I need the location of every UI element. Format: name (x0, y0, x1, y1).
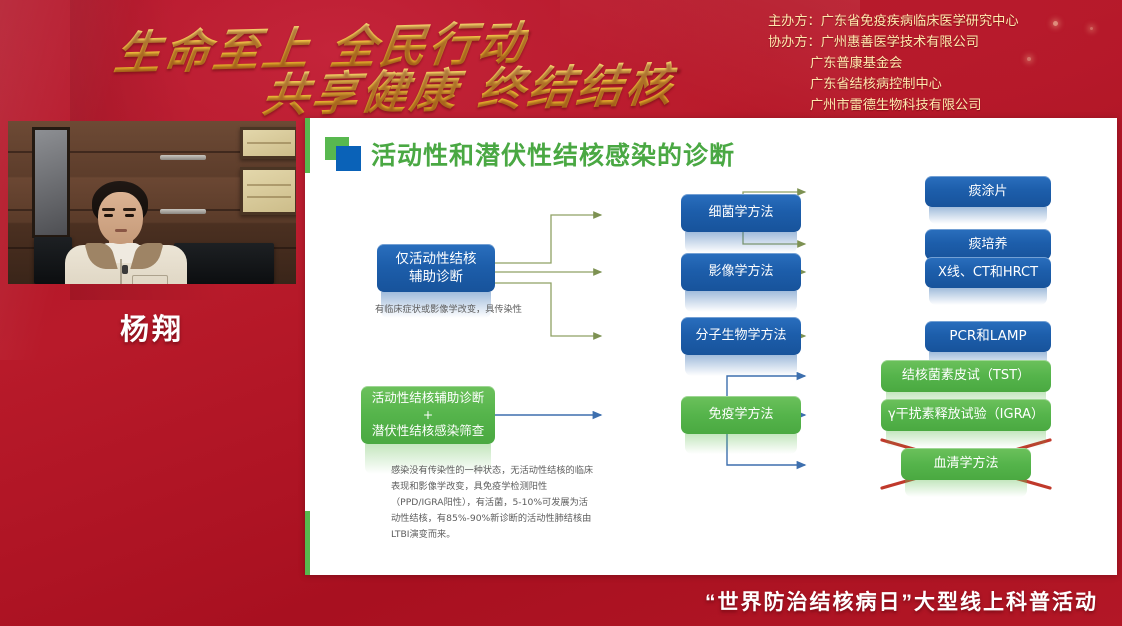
flow-node-xray-ct-hrct[interactable]: X线、CT和HRCT (925, 257, 1051, 288)
sponsor-row: 广东省结核病控制中心 (768, 73, 1098, 94)
sponsor-row: 主办方：广东省免疫疾病临床医学研究中心 (768, 10, 1098, 31)
slide-title: 活动性和潜伏性结核感染的诊断 (371, 136, 735, 172)
sponsor-list: 主办方：广东省免疫疾病临床医学研究中心 协办方：广州惠善医学技术有限公司 广东普… (768, 10, 1098, 115)
flow-node-active-tb-aid[interactable]: 仅活动性结核 辅助诊断 (377, 244, 495, 292)
speaker-name: 杨翔 (8, 306, 296, 348)
flow-node-tst[interactable]: 结核菌素皮试（TST） (881, 360, 1051, 392)
bottom-banner-text: “世界防治结核病日”大型线上科普活动 (705, 586, 1098, 616)
sparkle-dot (1053, 21, 1058, 26)
flow-node-molecular[interactable]: 分子生物学方法 (681, 317, 801, 355)
presentation-slide[interactable]: 活动性和潜伏性结核感染的诊断 (305, 118, 1117, 575)
event-headline: 生命至上 全民行动 共享健康 终结结核 (104, 4, 724, 114)
flow-node-immunology[interactable]: 免疫学方法 (681, 396, 801, 434)
wall-certificate (240, 127, 296, 159)
flow-node-bacteriology[interactable]: 细菌学方法 (681, 194, 801, 232)
broadcast-screen: 生命至上 全民行动 共享健康 终结结核 主办方：广东省免疫疾病临床医学研究中心 … (0, 0, 1122, 626)
slide-left-accent (305, 118, 310, 575)
flow-node-sputum-culture[interactable]: 痰培养 (925, 229, 1051, 260)
speaker-figure (60, 181, 192, 284)
sponsor-row: 广州市雷德生物科技有限公司 (768, 94, 1098, 115)
sparkle-dot (1027, 57, 1031, 61)
headline-line-2: 共享健康 终结结核 (259, 49, 680, 126)
sponsor-row: 广东普康基金会 (768, 52, 1098, 73)
flow-node-serology-struck[interactable]: 血清学方法 (901, 448, 1031, 480)
caption-active-tb: 有临床症状或影像学改变，具传染性 (375, 302, 585, 317)
flow-node-active-plus-latent[interactable]: 活动性结核辅助诊断 + 潜伏性结核感染筛查 (361, 386, 495, 444)
flow-node-sputum-smear[interactable]: 痰涂片 (925, 176, 1051, 207)
bottom-banner: “世界防治结核病日”大型线上科普活动 (0, 576, 1122, 626)
slide-title-row: 活动性和潜伏性结核感染的诊断 (325, 136, 735, 172)
sparkle-dot (1090, 27, 1093, 30)
speaker-video-feed[interactable] (8, 121, 296, 284)
flow-node-igra[interactable]: γ干扰素释放试验（IGRA） (881, 399, 1051, 431)
wall-certificate (240, 167, 296, 215)
caption-latent-tb: 感染没有传染性的一种状态，无活动性结核的临床 表现和影像学改变，具免疫学检测阳性… (391, 463, 631, 543)
square-bullet-icon (325, 137, 361, 171)
sponsor-row: 协办方：广州惠善医学技术有限公司 (768, 31, 1098, 52)
flow-node-imaging[interactable]: 影像学方法 (681, 253, 801, 291)
cabinet-handle (160, 155, 206, 160)
flow-node-pcr-lamp[interactable]: PCR和LAMP (925, 321, 1051, 352)
